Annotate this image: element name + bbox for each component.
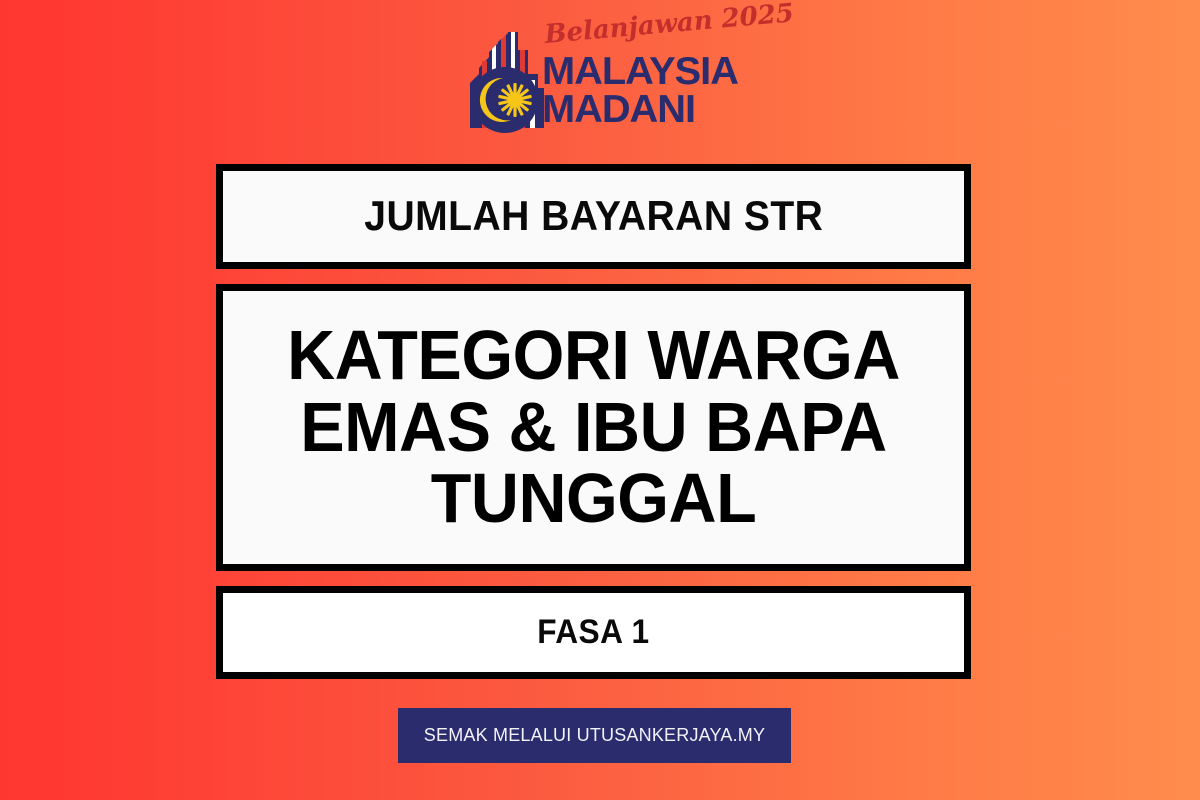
headline-line-2: EMAS & IBU BAPA xyxy=(287,392,900,463)
belanjawan-year-text: Belanjawan 2025 xyxy=(543,0,795,50)
panel-category-headline: KATEGORI WARGA EMAS & IBU BAPA TUNGGAL xyxy=(216,284,971,571)
category-headline: KATEGORI WARGA EMAS & IBU BAPA TUNGGAL xyxy=(280,320,908,534)
headline-line-3: TUNGGAL xyxy=(287,463,900,534)
page-title: JUMLAH BAYARAN STR xyxy=(364,194,823,238)
malaysia-madani-logo-block: Belanjawan 2025 MALAYSIA MADANI xyxy=(468,18,736,136)
panel-phase: FASA 1 xyxy=(216,586,971,679)
wordmark-line-malaysia: MALAYSIA xyxy=(542,54,738,90)
wordmark-line-madani: MADANI xyxy=(542,92,695,128)
panel-payment-title: JUMLAH BAYARAN STR xyxy=(216,164,971,269)
malaysia-madani-emblem-icon xyxy=(468,28,546,136)
cta-check-label: SEMAK MELALUI UTUSANKERJAYA.MY xyxy=(424,725,765,746)
headline-line-1: KATEGORI WARGA xyxy=(287,320,900,391)
malaysia-madani-wordmark: Belanjawan 2025 MALAYSIA MADANI xyxy=(540,18,740,136)
cta-check-bar[interactable]: SEMAK MELALUI UTUSANKERJAYA.MY xyxy=(398,708,791,763)
phase-label: FASA 1 xyxy=(537,613,649,652)
poster-canvas: Belanjawan 2025 MALAYSIA MADANI JUMLAH B… xyxy=(0,0,1200,800)
